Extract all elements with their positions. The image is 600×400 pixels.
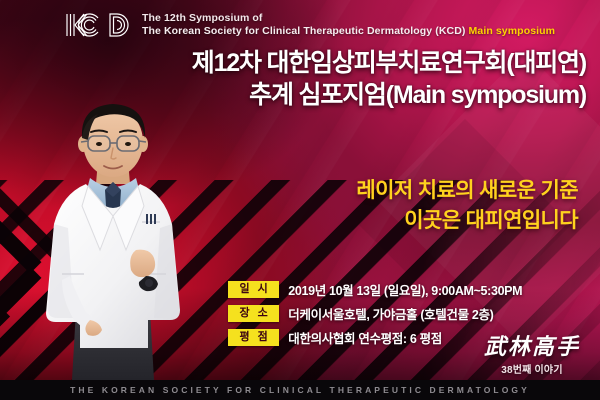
info-badge-credits: 평 점 <box>228 329 279 346</box>
calligraphy-logo: 武林高手 38번째 이야기 <box>484 336 580 376</box>
info-value-credits: 대한의사협회 연수평점: 6 평점 <box>288 328 442 347</box>
header-line-2-text: The Korean Society for Clinical Therapeu… <box>142 25 466 37</box>
calligraphy-main-text: 武林高手 <box>484 336 580 358</box>
info-value-date: 2019년 10월 13일 (일요일), 9:00AM~5:30PM <box>288 280 522 299</box>
header-line-2: The Korean Society for Clinical Therapeu… <box>142 25 555 38</box>
info-badge-venue: 장 소 <box>228 305 279 322</box>
event-info-list: 일 시 2019년 10월 13일 (일요일), 9:00AM~5:30PM 장… <box>228 280 522 352</box>
kcd-logo-icon <box>64 11 132 39</box>
header-highlight: Main symposium <box>469 25 556 37</box>
page-title: 제12차 대한임상피부치료연구회(대피연) 추계 심포지엄(Main sympo… <box>66 48 586 112</box>
header-bar: The 12th Symposium of The Korean Society… <box>0 6 600 44</box>
footer-text: THE KOREAN SOCIETY FOR CLINICAL THERAPEU… <box>70 385 530 395</box>
info-badge-date: 일 시 <box>228 281 279 298</box>
title-line-2: 추계 심포지엄(Main symposium) <box>66 79 586 112</box>
header-line-1: The 12th Symposium of <box>142 12 555 25</box>
symposium-banner: The 12th Symposium of The Korean Society… <box>0 0 600 400</box>
tagline-line-1: 레이저 치료의 새로운 기준 <box>178 176 578 206</box>
info-row-credits: 평 점 대한의사협회 연수평점: 6 평점 <box>228 328 522 347</box>
doctor-portrait <box>18 98 208 380</box>
info-value-venue: 더케이서울호텔, 가야금홀 (호텔건물 2층) <box>288 304 493 323</box>
tagline: 레이저 치료의 새로운 기준 이곳은 대피연입니다 <box>178 176 578 236</box>
info-row-venue: 장 소 더케이서울호텔, 가야금홀 (호텔건물 2층) <box>228 304 522 323</box>
title-line-1: 제12차 대한임상피부치료연구회(대피연) <box>66 48 586 79</box>
tagline-line-2: 이곳은 대피연입니다 <box>178 206 578 236</box>
calligraphy-sub-text: 38번째 이야기 <box>484 361 580 376</box>
header-org-text: The 12th Symposium of The Korean Society… <box>142 12 555 38</box>
footer-bar: THE KOREAN SOCIETY FOR CLINICAL THERAPEU… <box>0 380 600 400</box>
info-row-date: 일 시 2019년 10월 13일 (일요일), 9:00AM~5:30PM <box>228 280 522 299</box>
